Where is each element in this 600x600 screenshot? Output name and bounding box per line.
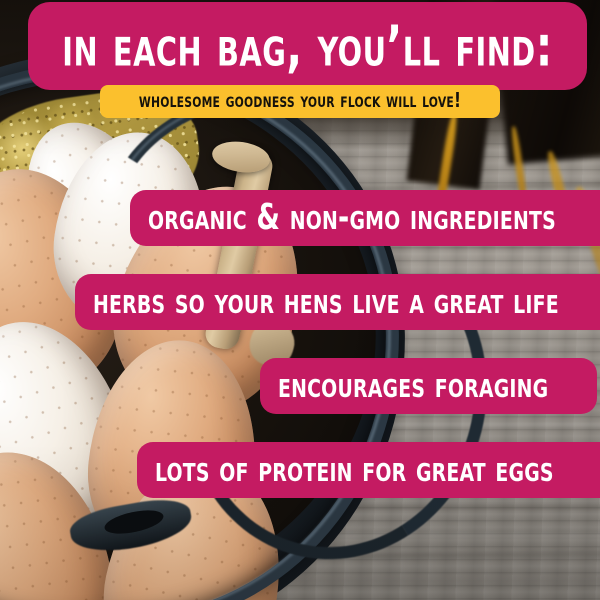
- benefit-label: Lots of protein for great eggs: [155, 452, 554, 488]
- infographic-poster: In each bag, you’ll find: Wholesome good…: [0, 0, 600, 600]
- benefit-label: Organic & non-GMO ingredients: [148, 200, 556, 236]
- benefit-bar-2: Herbs so your hens live a great life: [75, 274, 600, 330]
- subheadline-banner: Wholesome goodness your flock will love!: [100, 85, 500, 118]
- benefit-bar-3: Encourages foraging: [260, 358, 597, 414]
- benefit-bar-1: Organic & non-GMO ingredients: [130, 190, 600, 246]
- headline-banner: In each bag, you’ll find:: [28, 2, 587, 90]
- benefit-bar-4: Lots of protein for great eggs: [137, 442, 600, 498]
- subheadline-text: Wholesome goodness your flock will love!: [139, 91, 461, 111]
- benefit-label: Herbs so your hens live a great life: [93, 284, 559, 320]
- benefit-label: Encourages foraging: [278, 368, 548, 404]
- headline-text: In each bag, you’ll find:: [62, 18, 553, 74]
